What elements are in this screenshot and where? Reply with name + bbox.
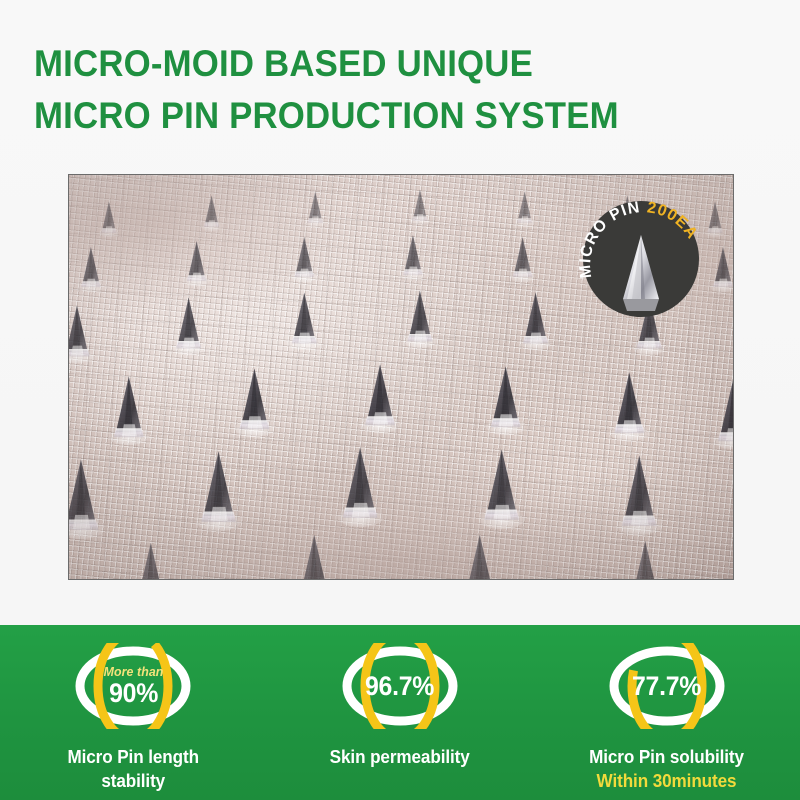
- page-title: MICRO-MOID BASED UNIQUE MICRO PIN PRODUC…: [34, 38, 764, 142]
- stat-caption-1: Micro Pin length stability: [64, 745, 202, 793]
- micro-pin-count-badge: MICRO PIN 200EA: [577, 195, 705, 323]
- stat-caption-2-line-1: Skin permeability: [330, 745, 470, 769]
- stats-row: More than 90% Micro Pin length stability: [0, 625, 800, 800]
- poster-page: MICRO-MOID BASED UNIQUE MICRO PIN PRODUC…: [0, 0, 800, 800]
- progress-ring-2: 96.7%: [335, 643, 465, 729]
- progress-ring-2-svg: [335, 643, 465, 729]
- stat-caption-1-line-1: Micro Pin length: [68, 745, 199, 769]
- stat-micro-pin-solubility: 77.7% Micro Pin solubility Within 30minu…: [533, 625, 800, 800]
- stat-skin-permeability: 96.7% Skin permeability: [267, 625, 534, 800]
- stat-caption-1-line-2: stability: [68, 769, 199, 793]
- progress-ring-1: More than 90%: [68, 643, 198, 729]
- stat-micro-pin-length-stability: More than 90% Micro Pin length stability: [0, 625, 267, 800]
- progress-ring-3-svg: [602, 643, 732, 729]
- stat-caption-3: Micro Pin solubility Within 30minutes: [585, 745, 748, 793]
- stats-panel: More than 90% Micro Pin length stability: [0, 625, 800, 800]
- page-title-line-1: MICRO-MOID BASED UNIQUE: [34, 38, 720, 90]
- stat-caption-3-sub: Within 30minutes: [589, 769, 744, 793]
- stat-caption-3-line-1: Micro Pin solubility: [589, 745, 744, 769]
- progress-ring-3: 77.7%: [602, 643, 732, 729]
- stat-caption-2: Skin permeability: [326, 745, 473, 769]
- page-title-line-2: MICRO PIN PRODUCTION SYSTEM: [34, 90, 720, 142]
- progress-ring-1-svg: [68, 643, 198, 729]
